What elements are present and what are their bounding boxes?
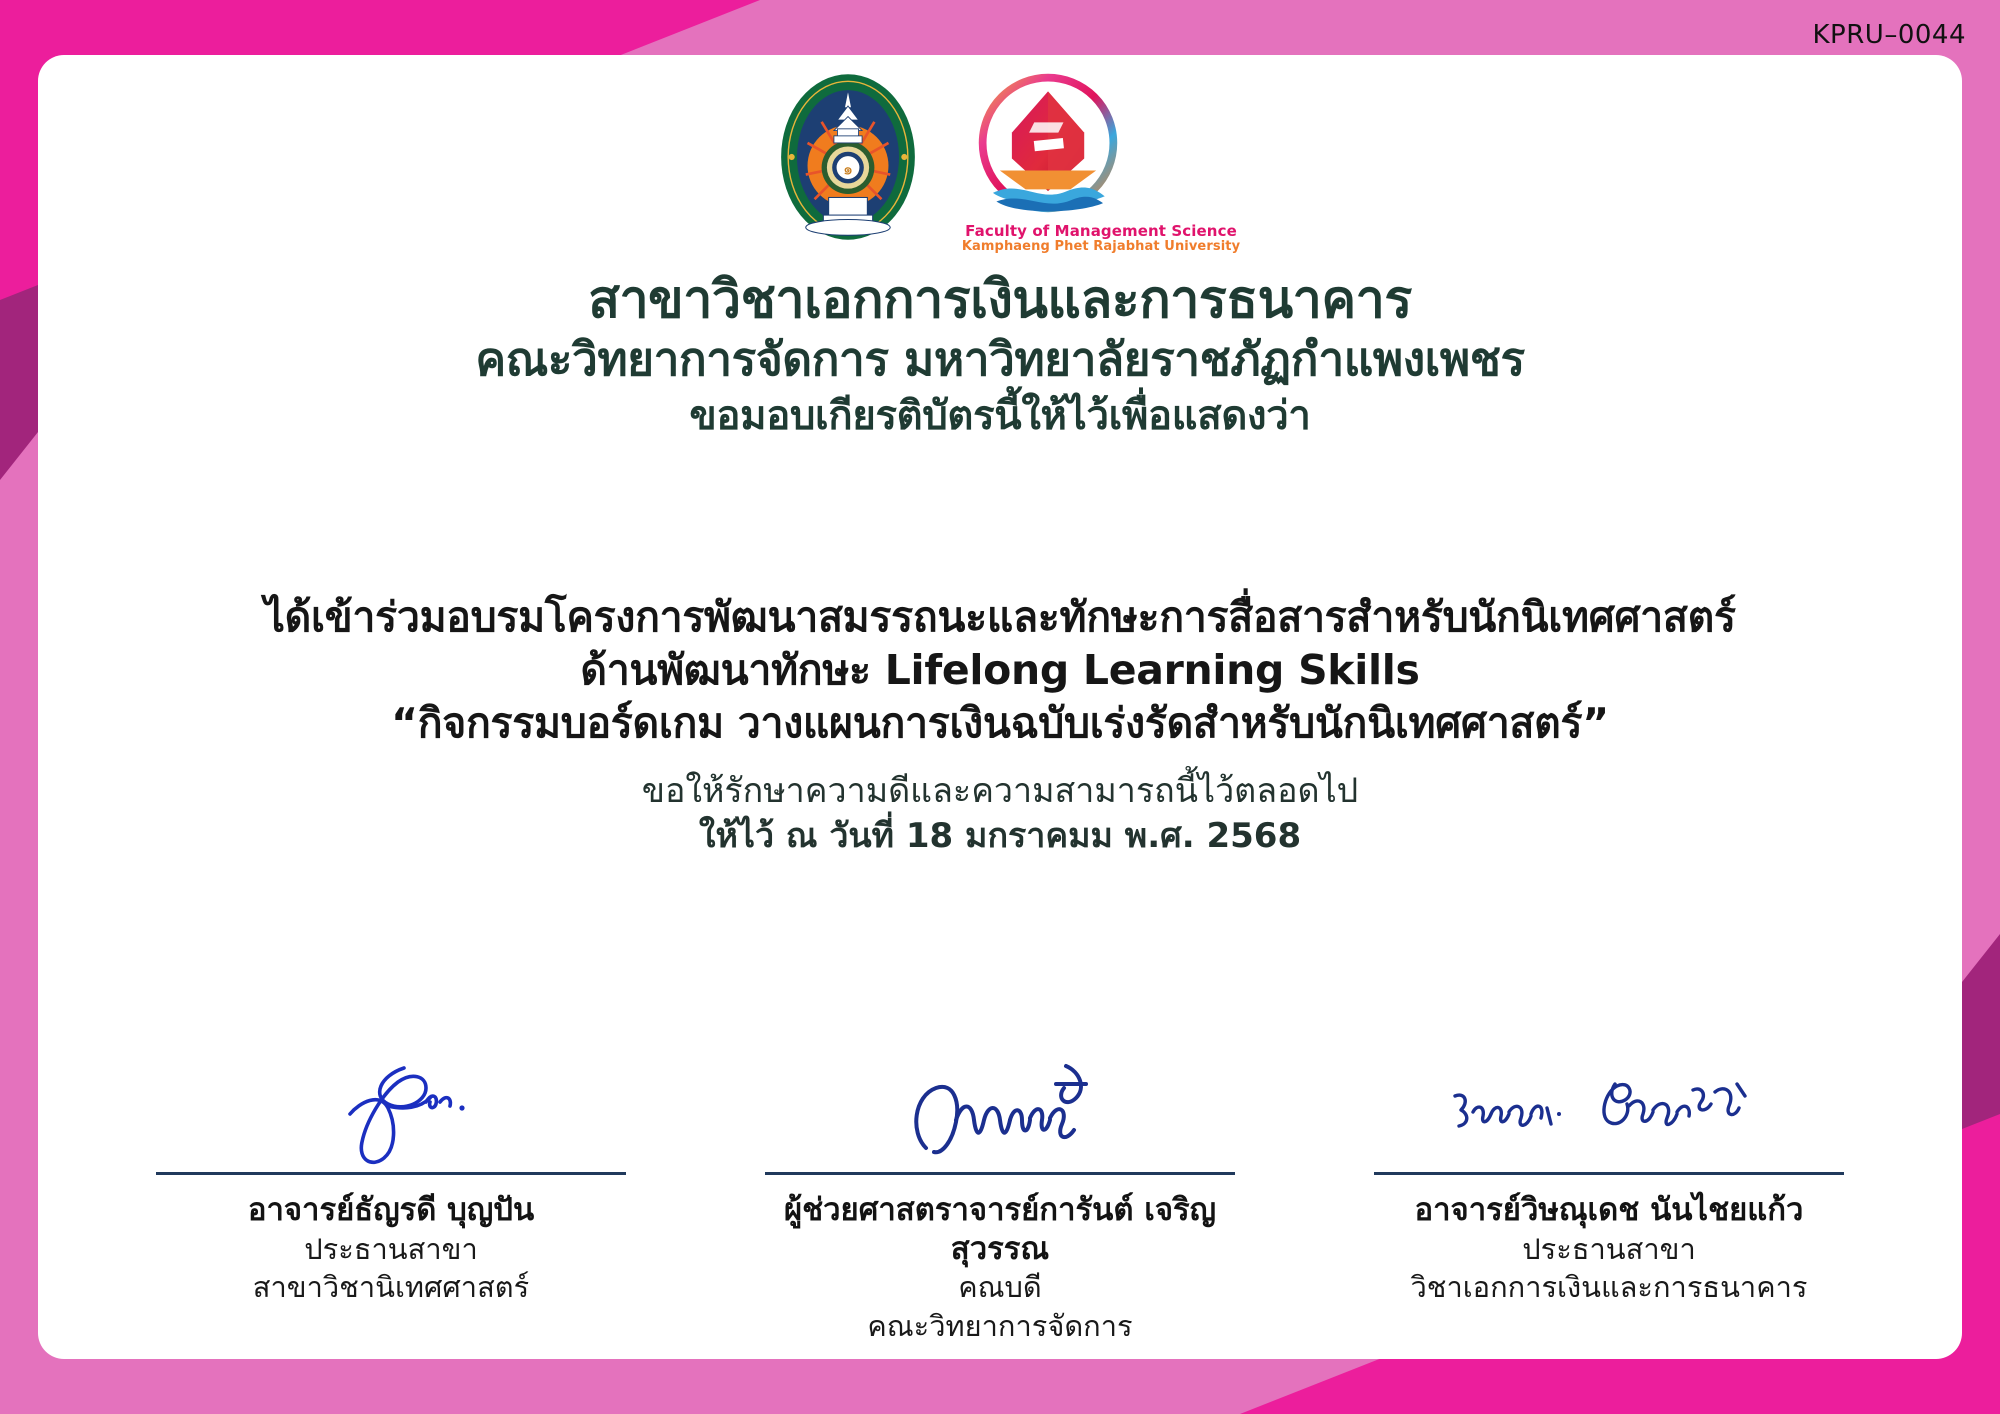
signature-block-2: ผู้ช่วยศาสตราจารย์การันต์ เจริญสุวรรณ คณ…	[765, 1060, 1235, 1345]
signature-ink-3	[1374, 1060, 1844, 1172]
certificate-serial-number: KPRU–0044	[1813, 20, 1967, 50]
signature-name-3: อาจารย์วิษณุเดช นันไชยแก้ว	[1374, 1191, 1844, 1230]
signature-rule-2	[765, 1172, 1235, 1175]
issue-date-line: ให้ไว้ ณ วันที่ 18 มกราคมม พ.ศ. 2568	[38, 814, 1962, 859]
certificate-card: ๑	[38, 55, 1962, 1359]
heading-line-award-intro: ขอมอบเกียรติบัตรนี้ให้ไว้เพื่อแสดงว่า	[38, 391, 1962, 441]
signature-role-3: ประธานสาขา	[1374, 1230, 1844, 1268]
signature-ink-2	[765, 1060, 1235, 1172]
signature-rule-3	[1374, 1172, 1844, 1175]
wish-line: ขอให้รักษาความดีและความสามารถนี้ไว้ตลอดไ…	[38, 769, 1962, 814]
faculty-caption-line2: Kamphaeng Phet Rajabhat University	[962, 240, 1240, 255]
signature-role-1: ประธานสาขา	[156, 1230, 626, 1268]
heading-line-major: สาขาวิชาเอกการเงินและการธนาคาร	[38, 270, 1962, 331]
handwritten-signature-icon	[880, 1062, 1120, 1172]
faculty-management-science-icon	[962, 69, 1134, 229]
heading-line-faculty: คณะวิทยาการจัดการ มหาวิทยาลัยราชภัฏกำแพง…	[38, 332, 1962, 387]
body-line-program: ได้เข้าร่วมอบรมโครงการพัฒนาสมรรถนะและทัก…	[38, 591, 1962, 644]
signature-name-1: อาจารย์ธัญรดี บุญปัน	[156, 1191, 626, 1230]
faculty-logo-caption: Faculty of Management Science Kamphaeng …	[962, 223, 1240, 254]
faculty-caption-line1: Faculty of Management Science	[962, 223, 1240, 240]
signature-org-1: สาขาวิชานิเทศศาสตร์	[156, 1268, 626, 1306]
signature-org-2: คณะวิทยาการจัดการ	[765, 1307, 1235, 1345]
signature-rule-1	[156, 1172, 626, 1175]
svg-text:๑: ๑	[843, 160, 853, 179]
university-seal-logo: ๑	[760, 69, 936, 245]
signature-ink-1	[156, 1060, 626, 1172]
logo-row: ๑	[38, 55, 1962, 254]
signature-role-2: คณบดี	[765, 1268, 1235, 1306]
body-line-activity: “กิจกรรมบอร์ดเกม วางแผนการเงินฉบับเร่งรั…	[38, 697, 1962, 750]
signature-name-2: ผู้ช่วยศาสตราจารย์การันต์ เจริญสุวรรณ	[765, 1191, 1235, 1269]
signature-block-3: อาจารย์วิษณุเดช นันไชยแก้ว ประธานสาขา วิ…	[1374, 1060, 1844, 1345]
certificate-body: ได้เข้าร่วมอบรมโครงการพัฒนาสมรรถนะและทัก…	[38, 591, 1962, 751]
certificate-wish: ขอให้รักษาความดีและความสามารถนี้ไว้ตลอดไ…	[38, 769, 1962, 859]
handwritten-signature-icon	[1439, 1062, 1779, 1172]
signature-row: อาจารย์ธัญรดี บุญปัน ประธานสาขา สาขาวิชา…	[38, 1060, 1962, 1345]
faculty-logo: Faculty of Management Science Kamphaeng …	[962, 69, 1240, 254]
signature-block-1: อาจารย์ธัญรดี บุญปัน ประธานสาขา สาขาวิชา…	[156, 1060, 626, 1345]
signature-org-3: วิชาเอกการเงินและการธนาคาร	[1374, 1268, 1844, 1306]
handwritten-signature-icon	[276, 1062, 506, 1172]
certificate-heading: สาขาวิชาเอกการเงินและการธนาคาร คณะวิทยาก…	[38, 270, 1962, 441]
kpru-seal-icon: ๑	[760, 69, 936, 245]
body-line-skill: ด้านพัฒนาทักษะ Lifelong Learning Skills	[38, 644, 1962, 697]
certificate-page: ๑	[0, 0, 2000, 1414]
